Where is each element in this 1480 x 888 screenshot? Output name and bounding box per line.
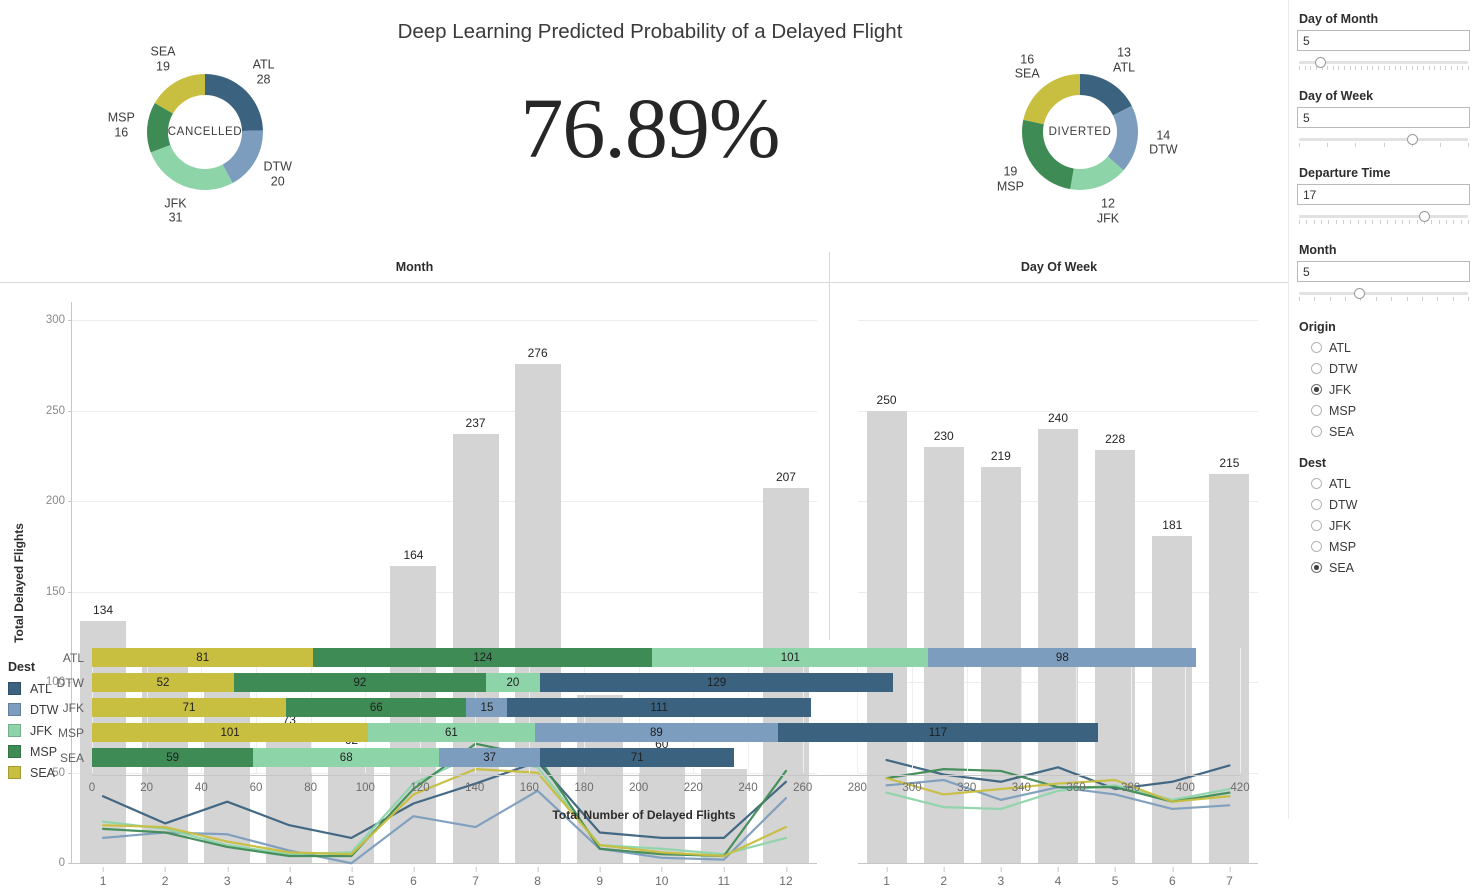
filters-sidebar: Day of MonthDay of WeekDeparture TimeMon… [1288, 0, 1480, 819]
radio-mark[interactable] [1311, 384, 1322, 395]
cancelled-donut: CANCELLEDATL28DTW20JFK31MSP16SEA19 [55, 22, 355, 242]
stacked-segment-atl[interactable]: 71 [540, 748, 734, 767]
radio-label: MSP [1329, 540, 1356, 554]
x-axis-line [858, 863, 1258, 864]
slider-ticks [1299, 220, 1468, 225]
stacked-x-axis-tick: 80 [304, 782, 317, 794]
x-axis-tick: 5 [1112, 874, 1119, 888]
slider-track [1299, 215, 1468, 218]
stacked-x-axis-tick: 280 [848, 782, 867, 794]
x-axis-tick: 1 [100, 874, 107, 888]
radio-origin-jfk[interactable]: JFK [1297, 379, 1470, 400]
input-month[interactable] [1297, 261, 1470, 282]
radio-origin-sea[interactable]: SEA [1297, 421, 1470, 442]
origin-dest-stacked-chart: ATL8112410198DTW529220129JFK716615111MSP… [0, 640, 1288, 819]
radio-label: DTW [1329, 362, 1357, 376]
charts-region: Month 050100150200250300Total Delayed Fl… [0, 252, 1288, 640]
gridline [1240, 648, 1241, 773]
x-axis-tick: 12 [779, 874, 792, 888]
radio-dest-atl[interactable]: ATL [1297, 473, 1470, 494]
diverted-donut: DIVERTED13ATL14DTW12JFK19MSP16SEA [930, 22, 1230, 242]
slider-day-of-week[interactable] [1297, 134, 1470, 152]
donut-label-jfk: 12JFK [1097, 196, 1119, 226]
slider-departure-time[interactable] [1297, 211, 1470, 229]
dest-legend-items: ATLDTWJFKMSPSEA [8, 678, 178, 783]
input-departure-time[interactable] [1297, 184, 1470, 205]
donut-segment-atl[interactable] [1080, 74, 1132, 115]
radio-dest-dtw[interactable]: DTW [1297, 494, 1470, 515]
diverted-donut-center-label: DIVERTED [1049, 126, 1112, 138]
label-month: Month [1299, 243, 1470, 257]
radio-mark[interactable] [1311, 363, 1322, 374]
slider-ticks [1299, 297, 1468, 302]
radio-mark[interactable] [1311, 499, 1322, 510]
slider-group-day-of-week: Day of Week [1297, 89, 1470, 152]
radio-mark[interactable] [1311, 541, 1322, 552]
slider-track [1299, 292, 1468, 295]
slider-ticks [1299, 66, 1468, 71]
x-axis-tick: 7 [1226, 874, 1233, 888]
legend-item-sea[interactable]: SEA [8, 762, 178, 783]
top-band: CANCELLEDATL28DTW20JFK31MSP16SEA19 DIVER… [0, 0, 1288, 252]
x-axis-tick: 7 [472, 874, 479, 888]
radio-controls: OriginATLDTWJFKMSPSEADestATLDTWJFKMSPSEA [1297, 320, 1470, 578]
stacked-x-axis-tick: 340 [1012, 782, 1031, 794]
day-of-week-chart-title: Day Of Week [830, 260, 1288, 274]
legend-swatch [8, 682, 21, 695]
radio-label: ATL [1329, 341, 1351, 355]
legend-label: JFK [30, 724, 52, 738]
radio-dest-msp[interactable]: MSP [1297, 536, 1470, 557]
donut-label-dtw: DTW20 [264, 159, 292, 189]
radio-mark[interactable] [1311, 562, 1322, 573]
stacked-segment-jfk[interactable]: 61 [368, 723, 535, 742]
stacked-x-axis-tick: 220 [684, 782, 703, 794]
dest-legend-title: Dest [8, 660, 178, 674]
donut-label-dtw: 14DTW [1149, 128, 1177, 158]
stacked-x-axis-tick: 60 [250, 782, 263, 794]
stacked-segment-dtw[interactable]: 15 [466, 698, 507, 717]
y-axis-title: Total Delayed Flights [12, 523, 26, 643]
x-axis-tick: 5 [348, 874, 355, 888]
legend-swatch [8, 703, 21, 716]
x-axis-tick: 2 [940, 874, 947, 888]
donut-label-sea: SEA19 [150, 45, 175, 75]
x-axis-tick: 4 [286, 874, 293, 888]
input-day-of-week[interactable] [1297, 107, 1470, 128]
stacked-segment-dtw[interactable]: 89 [535, 723, 778, 742]
x-axis-tick: 10 [655, 874, 668, 888]
donut-segment-jfk[interactable] [151, 145, 233, 190]
radio-label: MSP [1329, 404, 1356, 418]
slider-knob-day-of-month[interactable] [1315, 57, 1326, 68]
x-axis-tick: 6 [1169, 874, 1176, 888]
x-axis-tick: 3 [224, 874, 231, 888]
y-axis-tick: 250 [46, 405, 65, 417]
stacked-x-axis-tick: 180 [574, 782, 593, 794]
radio-mark[interactable] [1311, 342, 1322, 353]
x-axis-tick: 8 [534, 874, 541, 888]
legend-label: MSP [30, 745, 57, 759]
stacked-x-axis-tick: 100 [356, 782, 375, 794]
radio-label: DTW [1329, 498, 1357, 512]
x-axis-tick: 3 [998, 874, 1005, 888]
stacked-segment-jfk[interactable]: 101 [652, 648, 928, 667]
stacked-segment-atl[interactable]: 129 [540, 673, 893, 692]
donut-label-jfk: JFK31 [164, 196, 186, 226]
x-axis-tick: 6 [410, 874, 417, 888]
input-day-of-month[interactable] [1297, 30, 1470, 51]
slider-month[interactable] [1297, 288, 1470, 306]
x-axis-line [72, 863, 817, 864]
donut-segment-sea[interactable] [1023, 74, 1080, 124]
stacked-x-axis-tick: 260 [793, 782, 812, 794]
stacked-segment-atl[interactable]: 117 [778, 723, 1098, 742]
slider-group-departure-time: Departure Time [1297, 166, 1470, 229]
legend-label: ATL [30, 682, 52, 696]
slider-day-of-month[interactable] [1297, 57, 1470, 75]
donut-label-atl: 13ATL [1113, 46, 1135, 76]
stacked-x-axis-tick: 400 [1176, 782, 1195, 794]
stacked-bar-row: ATL8112410198 [92, 648, 1240, 667]
radio-label: JFK [1329, 383, 1351, 397]
stacked-bar-row: DTW529220129 [92, 673, 1240, 692]
stacked-x-axis-tick: 120 [410, 782, 429, 794]
x-axis-tick: 2 [162, 874, 169, 888]
stacked-x-axis-tick: 420 [1230, 782, 1249, 794]
stacked-segment-msp[interactable]: 124 [313, 648, 652, 667]
stacked-segment-msp[interactable]: 66 [286, 698, 466, 717]
stacked-x-axis-tick: 380 [1121, 782, 1140, 794]
radio-origin-atl[interactable]: ATL [1297, 337, 1470, 358]
donut-segment-dtw[interactable] [223, 130, 263, 183]
slider-knob-day-of-week[interactable] [1407, 134, 1418, 145]
radio-mark[interactable] [1311, 426, 1322, 437]
stacked-x-axis-tick: 360 [1066, 782, 1085, 794]
legend-item-jfk[interactable]: JFK [8, 720, 178, 741]
radio-mark[interactable] [1311, 478, 1322, 489]
panel-divider [830, 282, 1288, 283]
month-chart-title: Month [0, 260, 829, 274]
label-day-of-month: Day of Month [1299, 12, 1470, 26]
radio-dest-sea[interactable]: SEA [1297, 557, 1470, 578]
legend-item-msp[interactable]: MSP [8, 741, 178, 762]
stacked-x-axis-title: Total Number of Delayed Flights [0, 808, 1288, 822]
slider-group-month: Month [1297, 243, 1470, 306]
dest-legend: Dest ATLDTWJFKMSPSEA [8, 660, 178, 783]
slider-ticks [1299, 143, 1468, 148]
radio-dest-jfk[interactable]: JFK [1297, 515, 1470, 536]
y-axis-tick: 200 [46, 495, 65, 507]
legend-item-dtw[interactable]: DTW [8, 699, 178, 720]
page-title: Deep Learning Predicted Probability of a… [330, 20, 970, 44]
radio-label: SEA [1329, 425, 1354, 439]
radio-group-title-dest: Dest [1299, 456, 1470, 470]
stacked-segment-dtw[interactable]: 37 [439, 748, 540, 767]
x-axis-tick: 1 [883, 874, 890, 888]
donut-label-sea: 16SEA [1015, 52, 1040, 82]
radio-label: ATL [1329, 477, 1351, 491]
donut-label-msp: 19MSP [997, 164, 1024, 194]
stacked-bar-row: JFK716615111 [92, 698, 1240, 717]
radio-origin-msp[interactable]: MSP [1297, 400, 1470, 421]
radio-origin-dtw[interactable]: DTW [1297, 358, 1470, 379]
radio-mark[interactable] [1311, 520, 1322, 531]
month-chart-panel: Month 050100150200250300Total Delayed Fl… [0, 252, 830, 640]
stacked-bar-row: SEA59683771 [92, 748, 1240, 767]
radio-label: JFK [1329, 519, 1351, 533]
stacked-x-axis-tick: 0 [89, 782, 95, 794]
stacked-x-axis-tick: 200 [629, 782, 648, 794]
radio-label: SEA [1329, 561, 1354, 575]
legend-swatch [8, 766, 21, 779]
stacked-x-axis-tick: 160 [520, 782, 539, 794]
stacked-x-axis-tick: 300 [902, 782, 921, 794]
stacked-segment-jfk[interactable]: 68 [253, 748, 439, 767]
day-of-week-chart-panel: Day Of Week 2501230221932404228518162157 [830, 252, 1288, 640]
donut-label-msp: MSP16 [108, 110, 135, 140]
x-axis-tick: 11 [718, 874, 730, 888]
donut-label-atl: ATL28 [253, 57, 275, 87]
label-day-of-week: Day of Week [1299, 89, 1470, 103]
legend-swatch [8, 724, 21, 737]
slider-track [1299, 138, 1468, 141]
stacked-segment-dtw[interactable]: 98 [928, 648, 1196, 667]
stacked-x-axis-tick: 320 [957, 782, 976, 794]
y-axis-tick: 0 [59, 857, 65, 869]
stacked-bar-row: MSP1016189117 [92, 723, 1240, 742]
stacked-segment-msp[interactable]: 92 [234, 673, 485, 692]
stacked-segment-jfk[interactable]: 20 [486, 673, 541, 692]
cancelled-donut-center-label: CANCELLED [168, 126, 242, 138]
x-axis-tick: 9 [596, 874, 603, 888]
stacked-x-axis-tick: 140 [465, 782, 484, 794]
legend-label: DTW [30, 703, 58, 717]
stacked-x-axis-tick: 20 [140, 782, 153, 794]
y-axis-tick: 150 [46, 586, 65, 598]
panel-divider [0, 282, 829, 283]
slider-controls: Day of MonthDay of WeekDeparture TimeMon… [1297, 12, 1470, 306]
legend-swatch [8, 745, 21, 758]
stacked-x-axis-tick: 40 [195, 782, 208, 794]
label-departure-time: Departure Time [1299, 166, 1470, 180]
predicted-probability-value: 76.89% [330, 85, 970, 171]
slider-group-day-of-month: Day of Month [1297, 12, 1470, 75]
stacked-x-axis-tick: 240 [738, 782, 757, 794]
x-axis-tick: 4 [1055, 874, 1062, 888]
y-axis-tick: 300 [46, 314, 65, 326]
radio-group-title-origin: Origin [1299, 320, 1470, 334]
stacked-segment-atl[interactable]: 111 [507, 698, 810, 717]
stacked-x-axis-line [92, 775, 1240, 776]
legend-item-atl[interactable]: ATL [8, 678, 178, 699]
legend-label: SEA [30, 766, 55, 780]
radio-mark[interactable] [1311, 405, 1322, 416]
